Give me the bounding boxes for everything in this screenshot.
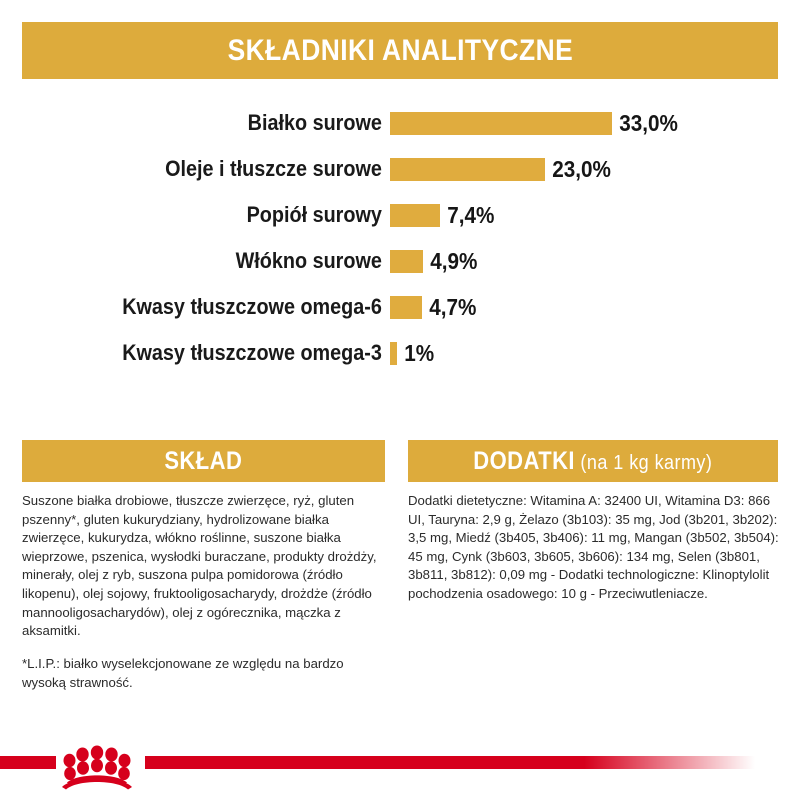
chart-value-label: 33,0%: [612, 110, 678, 137]
chart-bar: [390, 342, 397, 365]
additives-body-text: Dodatki dietetyczne: Witamina A: 32400 U…: [408, 492, 780, 604]
chart-row: Kwasy tłuszczowe omega-31%: [0, 330, 800, 376]
chart-value-label: 23,0%: [545, 156, 611, 183]
chart-bar: [390, 112, 612, 135]
additives-title-main: DODATKI: [473, 447, 575, 475]
analytical-constituents-title: SKŁADNIKI ANALITYCZNE: [227, 34, 573, 68]
chart-value-label: 1%: [397, 340, 434, 367]
analytical-constituents-banner: SKŁADNIKI ANALITYCZNE: [22, 22, 778, 79]
chart-row-label: Kwasy tłuszczowe omega-6: [39, 294, 390, 320]
chart-bar: [390, 158, 545, 181]
chart-value-label: 4,9%: [423, 248, 477, 275]
chart-row: Włókno surowe4,9%: [0, 238, 800, 284]
composition-title: SKŁAD: [165, 447, 243, 476]
product-info-panel: SKŁADNIKI ANALITYCZNE Białko surowe33,0%…: [0, 0, 800, 800]
chart-value-label: 4,7%: [422, 294, 476, 321]
chart-row-label: Białko surowe: [39, 110, 390, 136]
chart-row: Białko surowe33,0%: [0, 100, 800, 146]
chart-bar: [390, 296, 422, 319]
footer-rule-left: [0, 756, 56, 769]
chart-row-label: Kwasy tłuszczowe omega-3: [39, 340, 390, 366]
chart-row: Popiół surowy7,4%: [0, 192, 800, 238]
composition-banner: SKŁAD: [22, 440, 385, 482]
additives-title: DODATKI (na 1 kg karmy): [473, 447, 712, 476]
footer-rule-right: [145, 756, 755, 769]
royal-canin-crown-logo: [54, 742, 140, 790]
chart-bar: [390, 204, 440, 227]
chart-row: Kwasy tłuszczowe omega-64,7%: [0, 284, 800, 330]
chart-row-label: Włókno surowe: [39, 248, 390, 274]
additives-banner: DODATKI (na 1 kg karmy): [408, 440, 778, 482]
chart-bar: [390, 250, 423, 273]
chart-row: Oleje i tłuszcze surowe23,0%: [0, 146, 800, 192]
chart-value-label: 7,4%: [440, 202, 494, 229]
composition-body-text: Suszone białka drobiowe, tłuszcze zwierz…: [22, 492, 390, 641]
composition-footnote: *L.I.P.: białko wyselekcjonowane ze wzgl…: [22, 655, 390, 692]
analytical-constituents-chart: Białko surowe33,0%Oleje i tłuszcze surow…: [0, 100, 800, 390]
chart-row-label: Oleje i tłuszcze surowe: [39, 156, 390, 182]
additives-title-qualifier: (na 1 kg karmy): [575, 451, 712, 474]
footer-brand-strip: [0, 742, 800, 800]
chart-row-label: Popiół surowy: [39, 202, 390, 228]
